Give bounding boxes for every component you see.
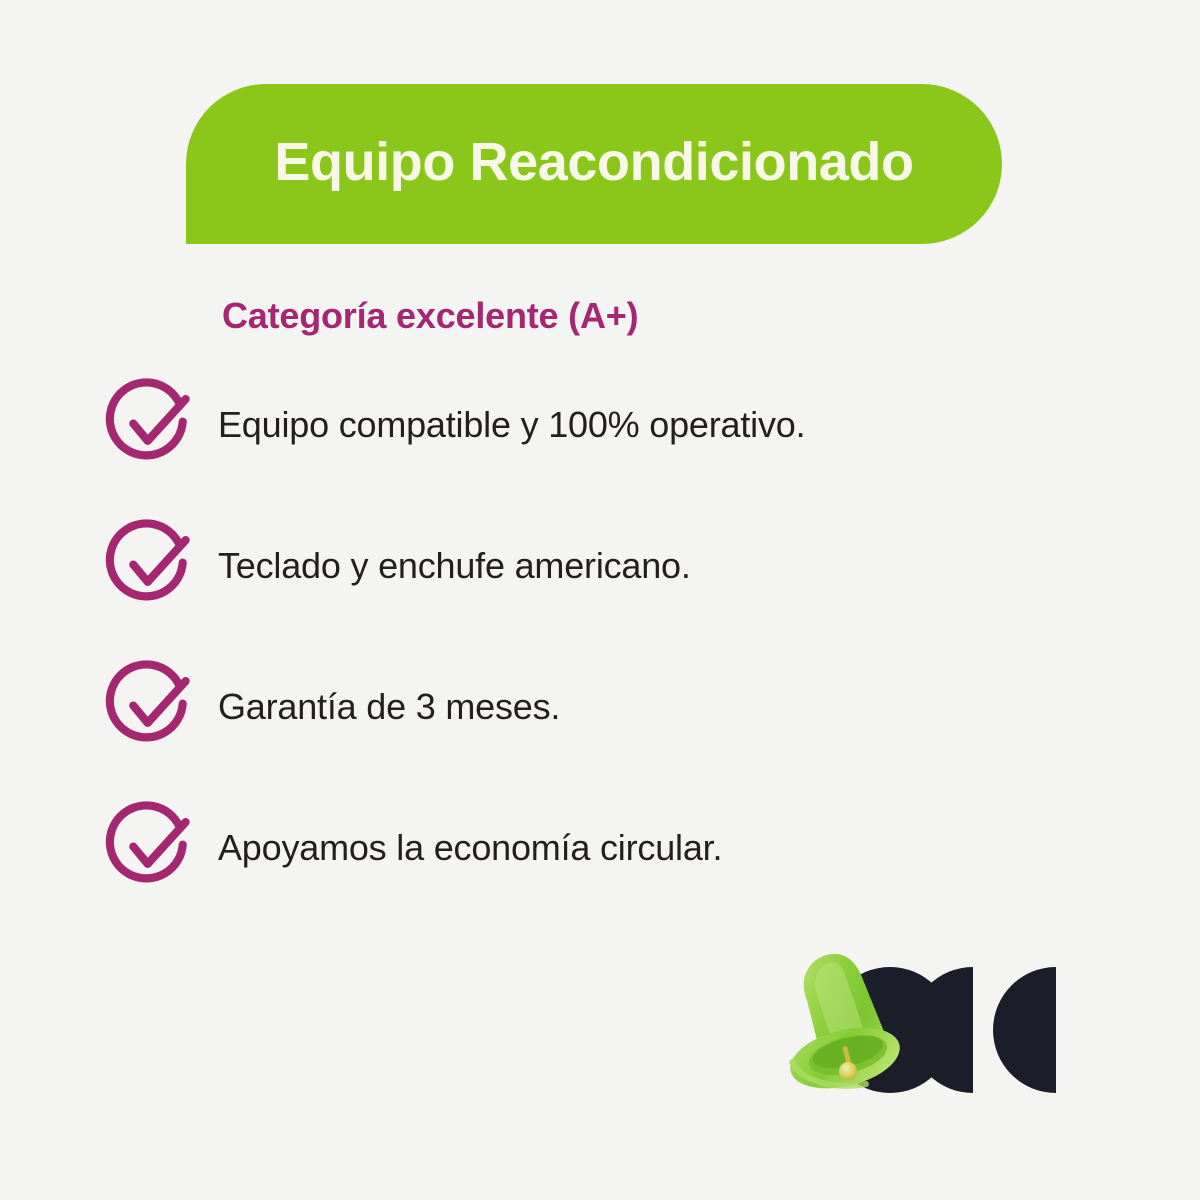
category-subtitle: Categoría excelente (A+) <box>222 295 638 337</box>
list-item-label: Garantía de 3 meses. <box>218 687 560 727</box>
check-circle-icon <box>104 659 200 755</box>
check-circle-icon <box>104 800 200 896</box>
list-item-label: Equipo compatible y 100% operativo. <box>218 405 805 445</box>
list-item-label: Apoyamos la economía circular. <box>218 828 722 868</box>
dark-half-disc-right <box>993 967 1056 1093</box>
feature-list: Equipo compatible y 100% operativo. Tecl… <box>104 376 1104 897</box>
page-title: Equipo Reacondicionado <box>274 135 913 189</box>
list-item: Equipo compatible y 100% operativo. <box>104 376 1104 474</box>
list-item-label: Teclado y enchufe americano. <box>218 546 691 586</box>
check-circle-icon <box>104 377 200 473</box>
brand-logo <box>766 938 1116 1118</box>
list-item: Teclado y enchufe americano. <box>104 517 1104 615</box>
poster-root: Equipo Reacondicionado Categoría excelen… <box>0 0 1200 1200</box>
header-banner: Equipo Reacondicionado <box>186 84 1002 244</box>
list-item: Garantía de 3 meses. <box>104 658 1104 756</box>
check-circle-icon <box>104 518 200 614</box>
list-item: Apoyamos la economía circular. <box>104 799 1104 897</box>
